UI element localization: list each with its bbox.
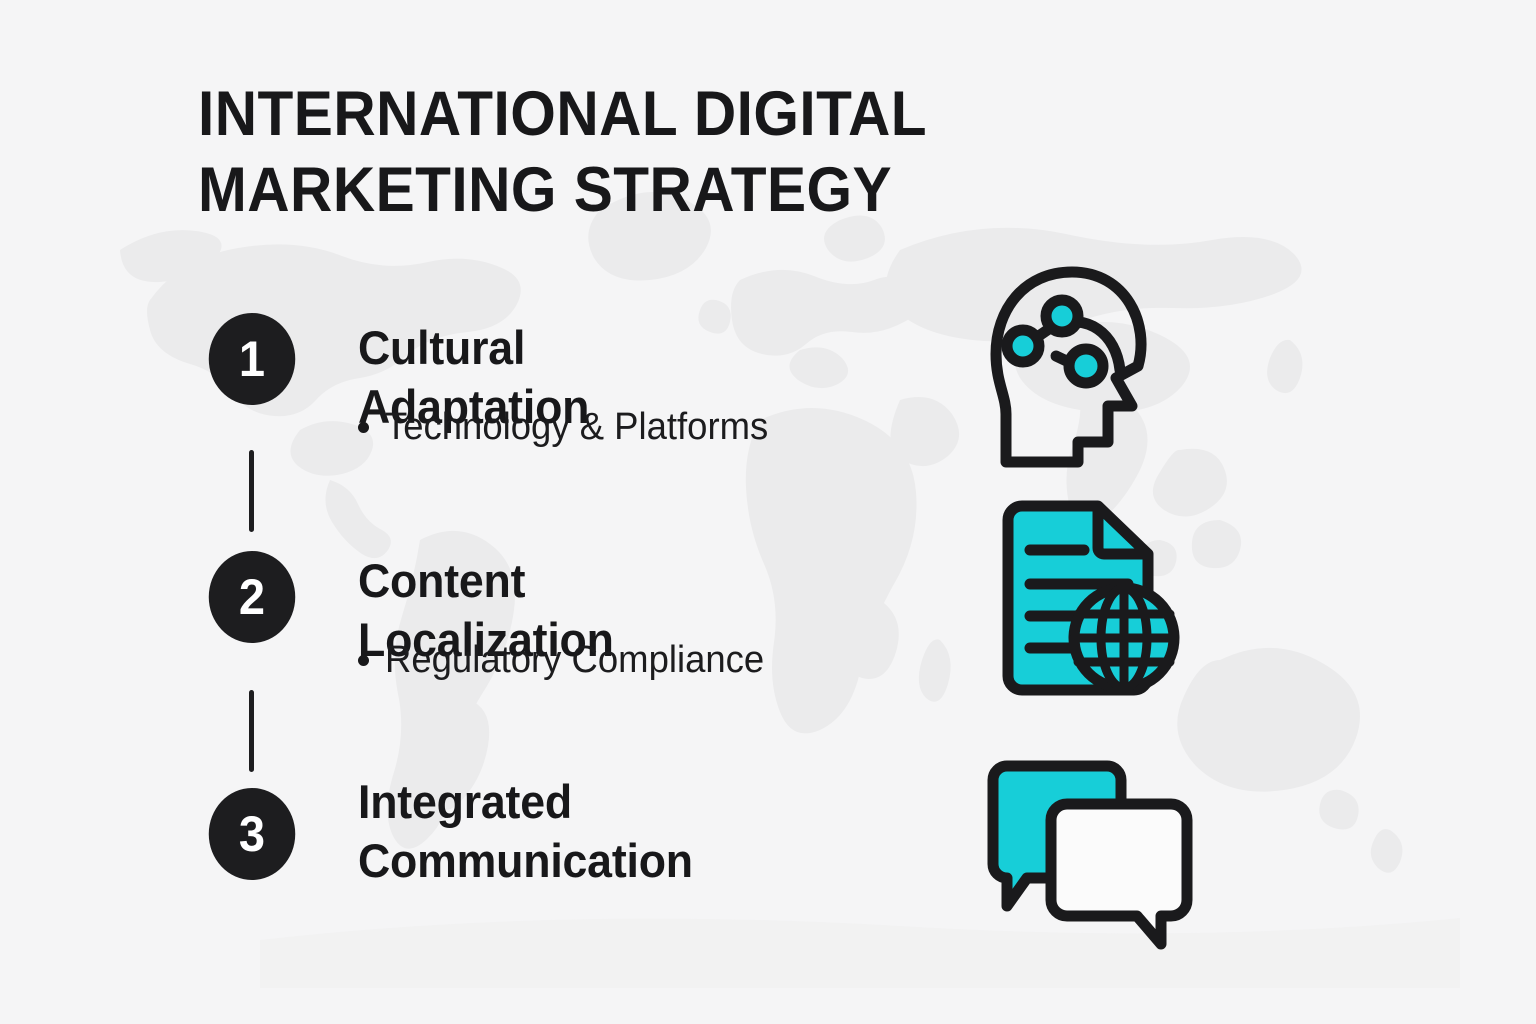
step-bullet-1-0: Technology & Platforms <box>358 404 784 450</box>
step-heading-3: Integrated Communication <box>358 772 693 890</box>
connector-line-1-2 <box>249 450 254 532</box>
step-bullet-text: Regulatory Compliance <box>385 637 764 683</box>
bullet-dot-icon <box>358 655 369 666</box>
infographic-canvas: INTERNATIONAL DIGITAL MARKETING STRATEGY… <box>0 0 1536 1024</box>
step-number-badge-3: 3 <box>209 788 295 880</box>
chat-bubbles-icon <box>965 760 1205 950</box>
page-title: INTERNATIONAL DIGITAL MARKETING STRATEGY <box>198 76 1035 228</box>
connector-line-2-3 <box>249 690 254 772</box>
step-number-badge-2: 2 <box>209 551 295 643</box>
step-bullet-text: Technology & Platforms <box>385 404 768 450</box>
step-number-badge-1: 1 <box>209 313 295 405</box>
document-globe-icon <box>988 498 1188 698</box>
step-bullet-2-0: Regulatory Compliance <box>358 637 780 683</box>
bullet-dot-icon <box>358 422 369 433</box>
head-network-icon <box>980 262 1180 477</box>
